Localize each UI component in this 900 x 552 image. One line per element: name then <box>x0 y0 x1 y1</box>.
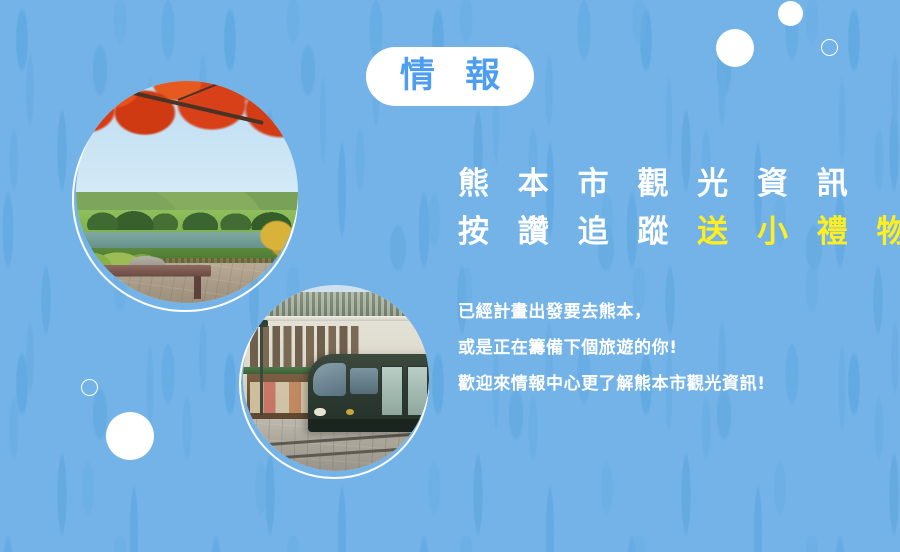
garden-bench-leg-left <box>105 276 113 298</box>
headline-line-1: 熊 本 市 觀 光 資 訊 <box>458 160 878 208</box>
tram-windshield <box>313 363 346 396</box>
paragraph-line-2: 或是正在籌備下個旅遊的你! <box>458 330 878 366</box>
tram-door-rear <box>407 366 428 416</box>
tram-side-window <box>350 368 378 395</box>
headline-line-2: 按 讚 追 蹤 送 小 禮 物 <box>458 208 878 256</box>
tram-vehicle <box>308 354 429 432</box>
headline-line-2-prefix: 按 讚 追 蹤 <box>458 214 697 250</box>
tram-building-roof <box>243 292 429 316</box>
garden-artwork <box>76 81 298 303</box>
kumamoto-city-tram-photo <box>243 285 429 471</box>
bubble-bottom-left-ring <box>81 379 98 396</box>
bubble-bottom-left-large <box>106 412 154 460</box>
tram-emblem <box>346 409 354 415</box>
tram-street-lamp <box>260 326 263 415</box>
garden-yellow-tree <box>258 219 296 257</box>
paragraph-block: 已經計畫出發要去熊本， 或是正在籌備下個旅遊的你! 歡迎來情報中心更了解熊本市觀… <box>458 294 878 402</box>
suizenji-garden-autumn-maple-photo <box>76 81 298 303</box>
text-column: 熊 本 市 觀 光 資 訊 按 讚 追 蹤 送 小 禮 物 已經計畫出發要去熊本… <box>458 0 878 552</box>
headline-block: 熊 本 市 觀 光 資 訊 按 讚 追 蹤 送 小 禮 物 <box>458 160 878 256</box>
tram-headlight <box>314 408 325 417</box>
tram-skirt <box>308 419 429 431</box>
promo-banner: 情 報 熊 本 市 觀 光 資 訊 按 讚 追 蹤 送 小 禮 物 已經計畫出發… <box>0 0 900 552</box>
garden-bench <box>96 265 211 276</box>
tram-artwork <box>243 285 429 471</box>
paragraph-line-1: 已經計畫出發要去熊本， <box>458 294 878 330</box>
tram-building-cornice <box>243 316 429 322</box>
paragraph-line-3: 歡迎來情報中心更了解熊本市觀光資訊! <box>458 366 878 402</box>
tram-door-front <box>381 366 402 416</box>
garden-bench-leg-right <box>194 276 202 298</box>
headline-line-2-highlight: 送 小 禮 物 <box>697 214 900 250</box>
garden-maple-foliage <box>76 81 298 201</box>
